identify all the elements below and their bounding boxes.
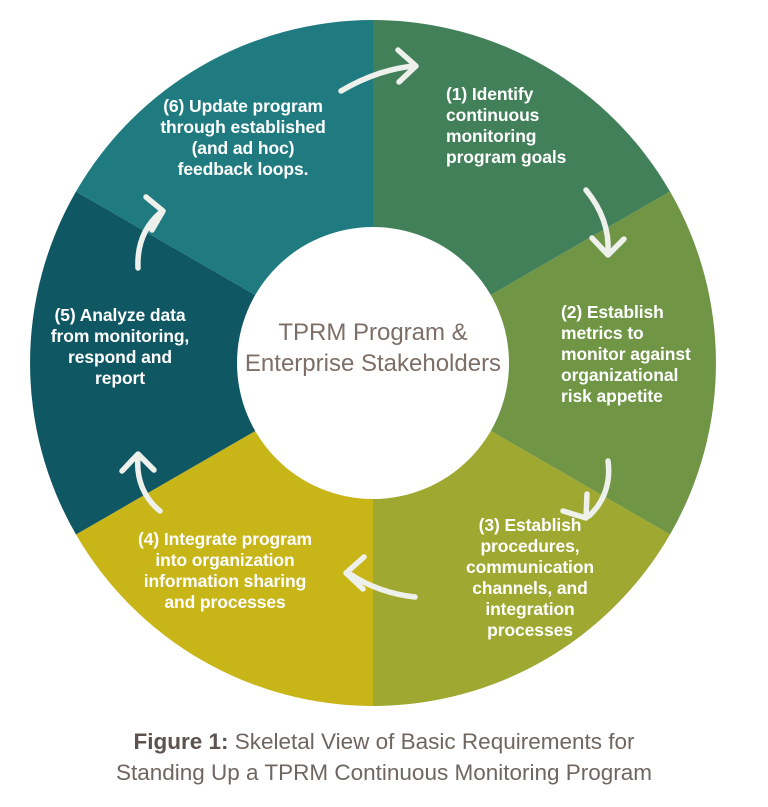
label-step-4-line-1: (4) Integrate program (138, 529, 312, 549)
label-step-5-line-3: respond and (68, 347, 172, 367)
label-step-3-line-2: procedures, (480, 536, 579, 556)
label-step-1-line-4: program goals (446, 147, 567, 167)
label-step-4-line-2: into organization (155, 550, 294, 570)
label-step-2-line-4: organizational (561, 365, 678, 385)
label-step-3-line-3: communication (466, 557, 594, 577)
label-step-4-line-3: information sharing (144, 571, 306, 591)
label-step-1-line-2: continuous (446, 105, 540, 125)
figure-container: (1) Identify continuous monitoring progr… (0, 0, 768, 807)
label-step-2-line-1: (2) Establish (561, 302, 664, 322)
label-step-2-line-5: risk appetite (561, 386, 663, 406)
center-title-line-2: Enterprise Stakeholders (245, 350, 501, 377)
label-step-3-line-5: integration (485, 599, 574, 619)
caption-line-2: Standing Up a TPRM Continuous Monitoring… (0, 757, 768, 788)
label-step-3-line-1: (3) Establish (479, 515, 582, 535)
label-step-2-line-3: monitor against (561, 344, 691, 364)
label-step-6-line-2: through established (160, 117, 325, 137)
label-step-4-line-4: and processes (164, 592, 286, 612)
center-hub: TPRM Program & Enterprise Stakeholders (237, 227, 509, 499)
figure-caption: Figure 1: Skeletal View of Basic Require… (0, 726, 768, 788)
label-step-5-line-2: from monitoring, (51, 326, 189, 346)
caption-line-1: Figure 1: Skeletal View of Basic Require… (0, 726, 768, 757)
cycle-diagram: (1) Identify continuous monitoring progr… (0, 0, 768, 730)
label-step-2-line-2: metrics to (561, 323, 644, 343)
label-step-5-line-1: (5) Analyze data (55, 305, 186, 325)
label-step-6-line-3: (and ad hoc) (192, 138, 295, 158)
caption-line-1-text: Skeletal View of Basic Requirements for (228, 729, 634, 754)
label-step-6-line-1: (6) Update program (163, 96, 323, 116)
center-title-line-1: TPRM Program & (278, 319, 467, 346)
label-step-6-line-4: feedback loops. (178, 159, 309, 179)
label-step-3-line-4: channels, and (472, 578, 587, 598)
label-step-1-line-3: monitoring (446, 126, 536, 146)
label-step-1-line-1: (1) Identify (446, 84, 534, 104)
caption-label: Figure 1: (133, 729, 228, 754)
label-step-3-line-6: processes (487, 620, 573, 640)
label-step-5-line-4: report (95, 368, 145, 388)
